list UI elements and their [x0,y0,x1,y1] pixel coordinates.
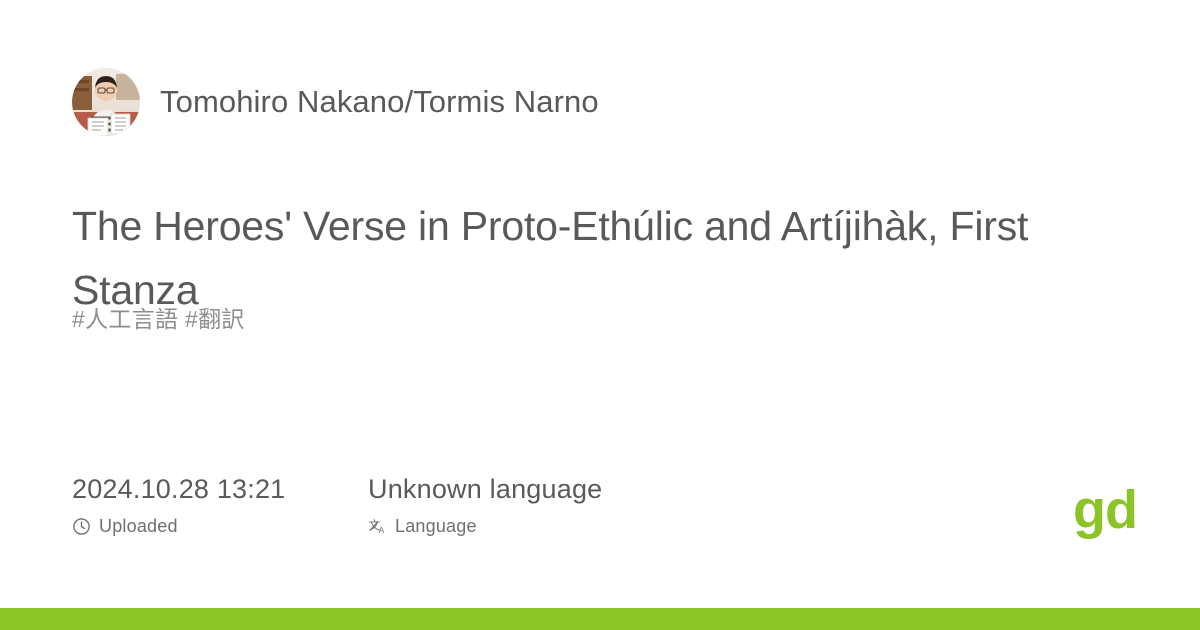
author-name[interactable]: Tomohiro Nakano/Tormis Narno [160,84,599,120]
meta-uploaded: 2024.10.28 13:21 Uploaded [72,472,368,536]
language-label: Language [395,516,477,536]
avatar[interactable] [72,68,140,136]
language-value: Unknown language [368,472,602,506]
share-card: Tomohiro Nakano/Tormis Narno The Heroes'… [0,0,1200,630]
meta-footer: 2024.10.28 13:21 Uploaded Unknown langua… [72,472,602,536]
tag-item[interactable]: #人工言語 #翻訳 [72,306,245,332]
language-label-row: 文 A Language [368,516,602,536]
translate-icon: 文 A [368,517,387,536]
meta-language: Unknown language 文 A Language [368,472,602,536]
uploaded-label: Uploaded [99,516,178,536]
brand-logo: gd [1073,483,1137,537]
clock-icon [72,517,91,536]
svg-text:A: A [378,525,384,535]
uploaded-value: 2024.10.28 13:21 [72,472,368,506]
uploaded-label-row: Uploaded [72,516,368,536]
tag-list[interactable]: #人工言語 #翻訳 [72,303,245,335]
author-row[interactable]: Tomohiro Nakano/Tormis Narno [72,68,599,136]
accent-bar [0,608,1200,630]
